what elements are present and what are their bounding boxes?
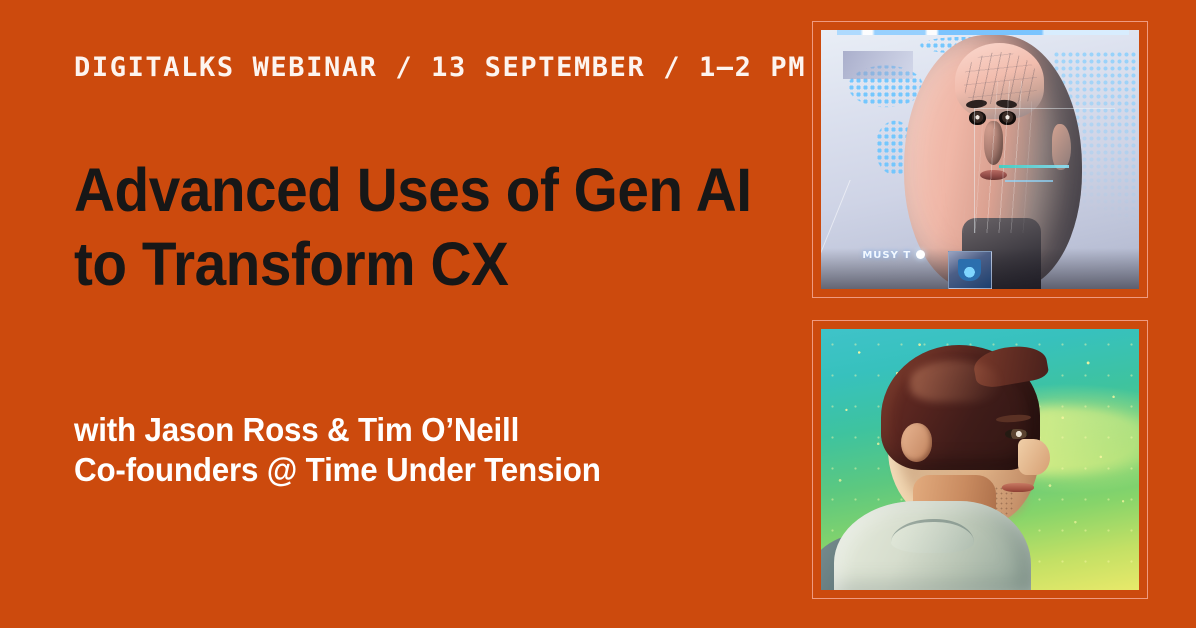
portrait-eye	[1005, 429, 1027, 438]
headline-line-2: to Transform CX	[74, 227, 762, 301]
webinar-promo-banner: DIGITALKS WEBINAR / 13 SEPTEMBER / 1–2 P…	[0, 0, 1196, 628]
page-title: Advanced Uses of Gen AI to Transform CX	[74, 153, 762, 301]
image-frame-bottom	[812, 320, 1148, 599]
image-frame-top: MUSY T	[812, 21, 1148, 298]
eyebrow-meta-line: DIGITALKS WEBINAR / 13 SEPTEMBER / 1–2 P…	[74, 54, 806, 81]
headline-line-1: Advanced Uses of Gen AI	[74, 153, 762, 227]
portrait-ear	[901, 423, 933, 462]
text-column: DIGITALKS WEBINAR / 13 SEPTEMBER / 1–2 P…	[74, 0, 814, 628]
hud-teal-bar-decor	[999, 165, 1069, 168]
portrait-nose	[1018, 439, 1050, 476]
speaker-block: with Jason Ross & Tim O’Neill Co-founder…	[74, 410, 777, 490]
hud-bracket-icon	[974, 108, 1115, 233]
image-overlay-glyph-text: MUSY T	[862, 250, 911, 261]
portrait-hair-sheen	[910, 360, 999, 402]
speaker-names-line: with Jason Ross & Tim O’Neill	[74, 410, 777, 450]
ai-device-badge-decor	[948, 251, 991, 289]
ai-wall-panel-decor	[843, 51, 913, 79]
speaker-role-line: Co-founders @ Time Under Tension	[74, 450, 777, 490]
man-profile-portrait-image	[821, 329, 1139, 590]
android-ai-face-image: MUSY T	[821, 30, 1139, 289]
portrait-lips	[1002, 483, 1034, 492]
hud-blue-bar-decor	[1005, 180, 1053, 182]
portrait-collar	[891, 519, 974, 553]
